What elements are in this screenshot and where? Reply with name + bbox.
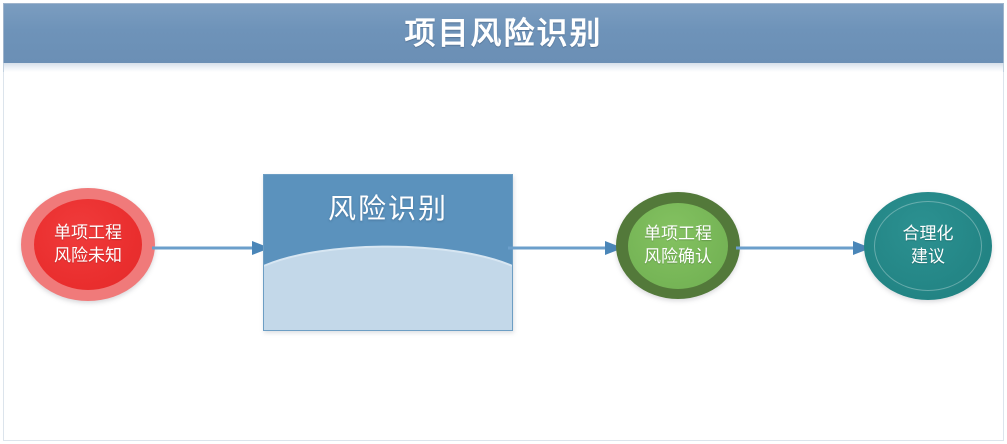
node-risk-unknown-inner: 单项工程 风险未知 (34, 199, 142, 290)
slide-canvas: 项目风险识别 单项工程 风险未知 风险识别 单项工程 风险确认 (0, 0, 1007, 444)
header-underline (3, 63, 1004, 72)
node-risk-confirmed[interactable]: 单项工程 风险确认 (616, 192, 740, 299)
node-risk-unknown-label: 单项工程 风险未知 (54, 222, 122, 268)
connector-arrow-2 (508, 240, 623, 256)
node-risk-confirmed-label: 单项工程 风险确认 (644, 223, 712, 269)
node-suggestion-label: 合理化 建议 (903, 223, 954, 269)
node-risk-confirmed-inner: 单项工程 风险确认 (628, 203, 728, 289)
slide-header-bar: 项目风险识别 (3, 3, 1004, 63)
connector-arrow-3 (736, 240, 871, 256)
page-title: 项目风险识别 (405, 18, 603, 49)
node-risk-identify-label: 风险识别 (264, 195, 512, 223)
node-suggestion[interactable]: 合理化 建议 (864, 192, 992, 300)
node-risk-unknown[interactable]: 单项工程 风险未知 (21, 188, 155, 301)
connector-arrow-1 (152, 240, 270, 256)
node-risk-identify[interactable]: 风险识别 (263, 174, 513, 331)
